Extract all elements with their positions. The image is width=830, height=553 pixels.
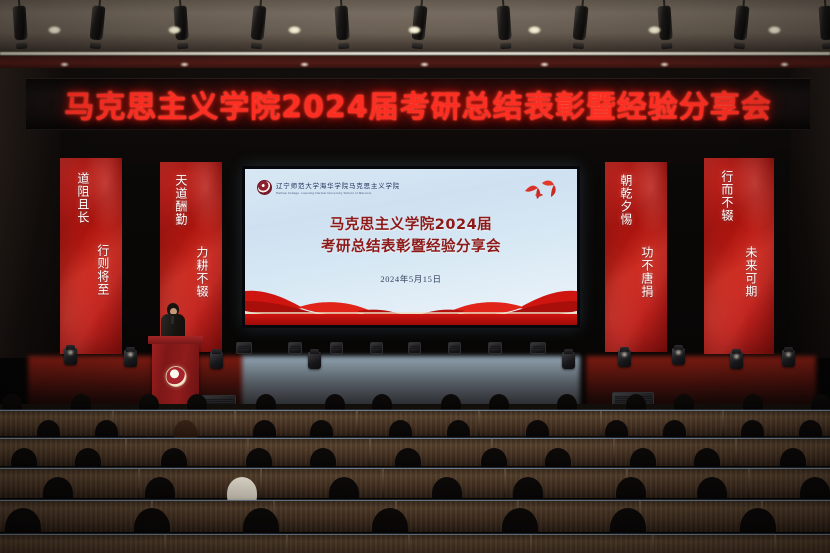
ceiling-downlight	[180, 62, 189, 67]
slide-red-band	[245, 314, 577, 325]
banner-left-line-2: 力耕不辍	[193, 246, 209, 298]
ceiling-downlight	[168, 26, 181, 34]
ceiling-downlight	[528, 26, 541, 34]
banner-right: 朝乾夕惕 功不唐捐	[605, 162, 667, 352]
university-seal-icon	[257, 180, 272, 195]
silk-sheen	[704, 158, 774, 354]
slide-logo-name-cn: 辽宁师范大学海华学院马克思主义学院	[276, 180, 400, 190]
ceiling-downlight	[408, 26, 421, 34]
stage-monitor-speaker	[288, 342, 302, 354]
led-title-banner: 马克思主义学院2024届考研总结表彰暨经验分享会	[26, 78, 810, 130]
moving-head-light	[562, 352, 575, 369]
seat-row	[0, 534, 830, 553]
ceiling-downlight	[780, 62, 789, 67]
moving-head-light	[782, 350, 795, 367]
stage-monitor-speaker	[408, 342, 421, 354]
moving-head-light	[308, 352, 321, 369]
banner-right-line-2: 功不唐捐	[638, 246, 654, 298]
ceiling-downlight	[60, 62, 69, 67]
stage-monitor-speaker	[370, 342, 383, 354]
projection-screen-frame: 辽宁师范大学海华学院马克思主义学院 Haihua College, Liaoni…	[242, 166, 580, 328]
stage-spotlight-icon	[657, 0, 673, 46]
ceiling-downlight	[648, 26, 661, 34]
stage-monitor-speaker	[448, 342, 461, 354]
stage-monitor-speaker	[330, 342, 343, 354]
moving-head-light	[618, 350, 631, 367]
banner-far-right-line-1: 行而不辍	[718, 170, 734, 222]
slide-logo-name-en: Haihua College, Liaoning Normal Universi…	[276, 191, 400, 195]
flying-doves-icon	[521, 179, 563, 205]
ceiling-downlight	[540, 62, 549, 67]
banner-far-right: 行而不辍 未来可期	[704, 158, 774, 354]
auditorium-scene: 马克思主义学院2024届考研总结表彰暨经验分享会 道阻且长 行则将至 天道酬勤 …	[0, 0, 830, 553]
slide-title-line-1: 马克思主义学院2024届	[245, 215, 577, 237]
slide-title-line-2: 考研总结表彰暨经验分享会	[245, 237, 577, 259]
stage-spotlight-icon	[496, 0, 512, 46]
moving-head-light	[730, 352, 743, 369]
banner-far-left: 道阻且长 行则将至	[60, 158, 122, 354]
moving-head-light	[124, 350, 137, 367]
moving-head-light	[210, 352, 223, 369]
ceiling-downlight	[768, 26, 781, 34]
ceiling-downlight	[288, 26, 301, 34]
slide-institution-logo: 辽宁师范大学海华学院马克思主义学院 Haihua College, Liaoni…	[257, 180, 400, 195]
stage-monitor-speaker	[236, 342, 252, 354]
slide-logo-text: 辽宁师范大学海华学院马克思主义学院 Haihua College, Liaoni…	[276, 180, 400, 195]
silk-sheen	[60, 158, 122, 354]
ceiling-downlight	[420, 62, 429, 67]
ceiling-downlight	[660, 62, 669, 67]
projection-screen: 辽宁师范大学海华学院马克思主义学院 Haihua College, Liaoni…	[245, 169, 577, 325]
stage-monitor-speaker	[488, 342, 502, 354]
led-banner-text: 马克思主义学院2024届考研总结表彰暨经验分享会	[64, 82, 772, 126]
ceiling-downlight	[48, 26, 61, 34]
stage-monitor-speaker	[530, 342, 546, 354]
podium-top	[148, 336, 203, 344]
stage-spotlight-icon	[818, 0, 830, 46]
banner-far-right-line-2: 未来可期	[742, 246, 758, 298]
slide-title: 马克思主义学院2024届 考研总结表彰暨经验分享会	[245, 215, 577, 259]
ceiling-downlight	[300, 62, 309, 67]
banner-far-left-line-2: 行则将至	[94, 244, 110, 296]
silk-sheen	[605, 162, 667, 352]
seat-row	[0, 500, 830, 532]
moving-head-light	[672, 348, 685, 365]
banner-right-line-1: 朝乾夕惕	[617, 174, 633, 226]
audience-area	[0, 404, 830, 553]
seat-row	[0, 410, 830, 436]
university-emblem-icon	[165, 366, 186, 387]
slide-ribbon-decor	[245, 281, 577, 325]
banner-far-left-line-1: 道阻且长	[74, 172, 90, 224]
banner-left-line-1: 天道酬勤	[172, 174, 188, 226]
moving-head-light	[64, 348, 77, 365]
handheld-microphone-icon	[171, 316, 174, 324]
